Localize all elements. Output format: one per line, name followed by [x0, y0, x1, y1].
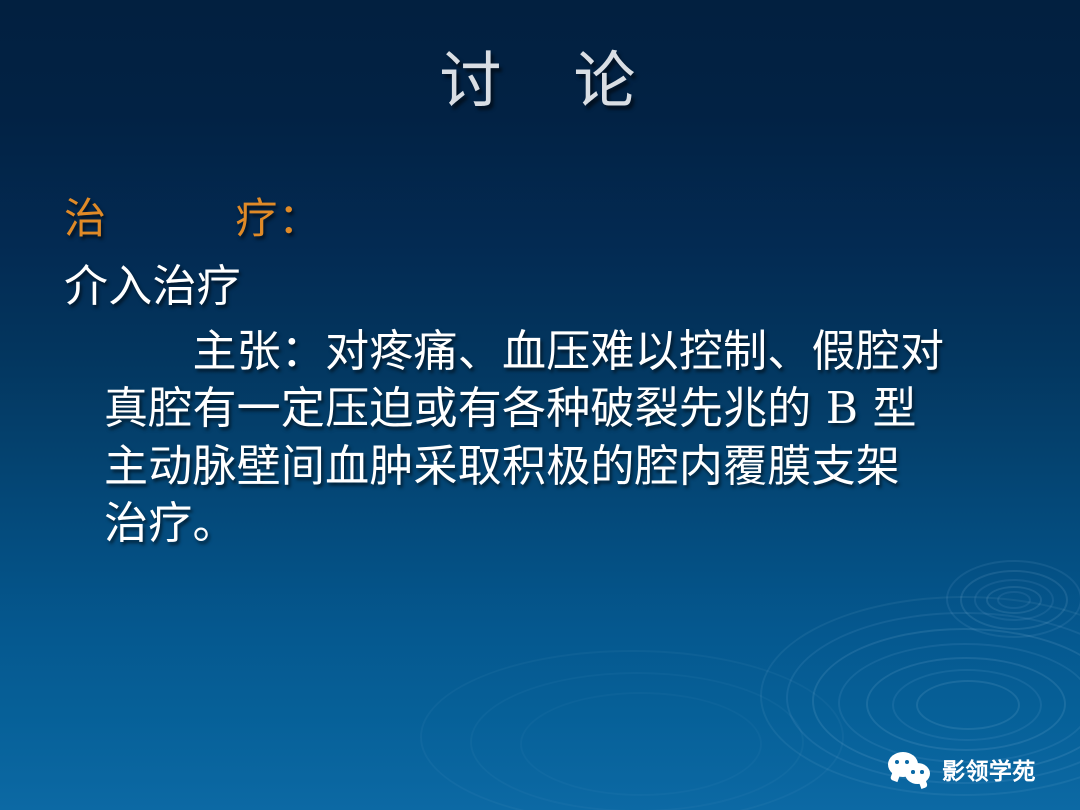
wechat-icon: [888, 752, 932, 786]
ripple-ring: [974, 579, 1054, 621]
ripple-ring: [420, 650, 844, 810]
body-paragraph-line: 主动脉壁间血肿采取积极的腔内覆膜支架: [104, 438, 1008, 495]
ripple-ring: [838, 643, 1080, 763]
wechat-bubble-dot: [920, 770, 924, 774]
body-paragraph-line: 主张：对疼痛、血压难以控制、假腔对: [104, 323, 1008, 380]
slide-title: 讨 论: [0, 48, 1080, 113]
wechat-bubble-dot: [905, 760, 909, 764]
slide-body: 介入治疗 主张：对疼痛、血压难以控制、假腔对 真腔有一定压迫或有各种破裂先兆的 …: [64, 258, 1008, 552]
body-paragraph-line: 真腔有一定压迫或有各种破裂先兆的 B 型: [104, 380, 1008, 437]
section-subheading: 治 疗：: [64, 196, 321, 242]
ripple-ring: [986, 586, 1042, 614]
ripple-ring: [866, 657, 1066, 751]
ripple-ring: [470, 672, 804, 810]
watermark-label: 影领学苑: [942, 752, 1036, 786]
presentation-slide: 讨 论 治 疗： 介入治疗 主张：对疼痛、血压难以控制、假腔对 真腔有一定压迫或…: [0, 0, 1080, 810]
watermark: 影领学苑: [888, 752, 1036, 786]
wechat-bubble-small: [905, 763, 930, 784]
body-paragraph: 主张：对疼痛、血压难以控制、假腔对 真腔有一定压迫或有各种破裂先兆的 B 型 主…: [64, 323, 1008, 552]
body-lead-line: 介入治疗: [64, 258, 1008, 315]
ripple-ring: [892, 669, 1042, 741]
ripple-ring: [520, 692, 762, 796]
wechat-bubble-dot: [911, 770, 915, 774]
ripple-ring: [916, 680, 1020, 730]
wechat-bubble-dot: [895, 760, 899, 764]
ripple-ring: [960, 570, 1068, 630]
ripple-ring: [997, 591, 1031, 609]
ripple-ring: [946, 560, 1080, 638]
body-paragraph-line: 治疗。: [104, 495, 1008, 552]
